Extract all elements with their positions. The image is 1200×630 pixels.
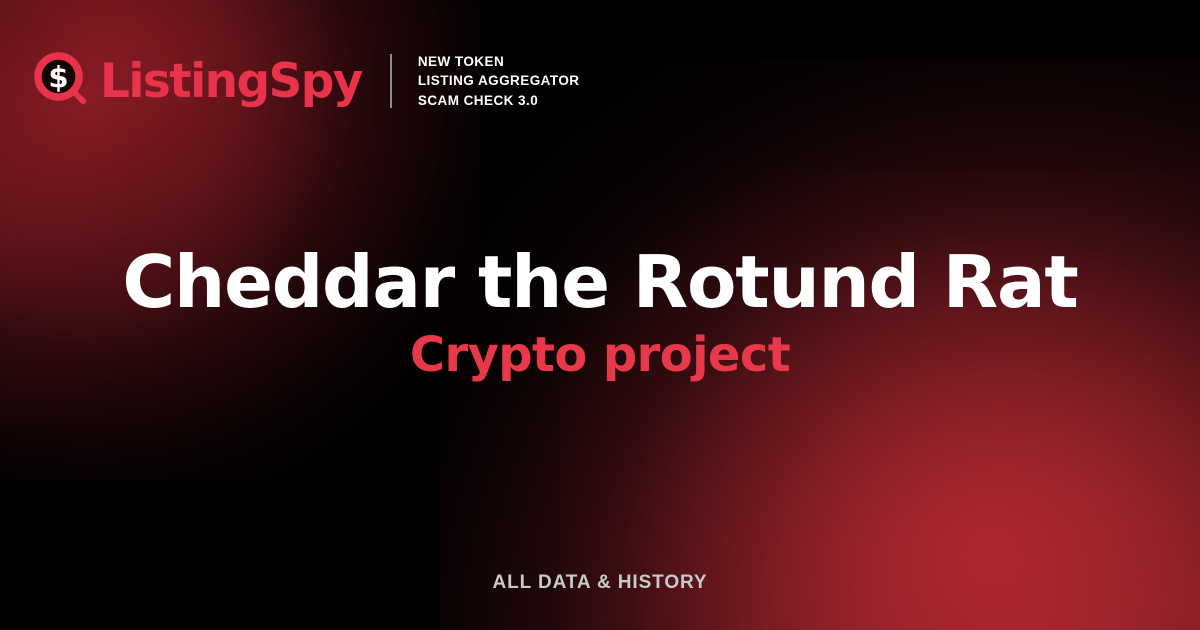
social-share-card: $ ListingSpy NEW TOKEN LISTING AGGREGATO…: [0, 0, 1200, 630]
page-subtitle: Crypto project: [0, 330, 1200, 380]
hero-section: Cheddar the Rotund Rat Crypto project: [0, 246, 1200, 380]
logo-lockup[interactable]: $ ListingSpy: [34, 52, 362, 110]
background-glow-bottom-right: [560, 170, 1200, 630]
page-title: Cheddar the Rotund Rat: [0, 246, 1200, 318]
footer-section: ALL DATA & HISTORY: [0, 572, 1200, 594]
footer-label: ALL DATA & HISTORY: [0, 572, 1200, 594]
svg-text:$: $: [48, 61, 68, 95]
brand-header: $ ListingSpy NEW TOKEN LISTING AGGREGATO…: [34, 52, 579, 110]
brand-wordmark: ListingSpy: [100, 58, 362, 105]
brand-tagline: NEW TOKEN LISTING AGGREGATOR SCAM CHECK …: [418, 53, 580, 109]
tagline-line-2: LISTING AGGREGATOR: [418, 72, 580, 89]
magnifier-dollar-icon: $: [34, 52, 92, 110]
header-divider: [390, 54, 392, 108]
tagline-line-3: SCAM CHECK 3.0: [418, 92, 580, 109]
tagline-line-1: NEW TOKEN: [418, 53, 580, 70]
